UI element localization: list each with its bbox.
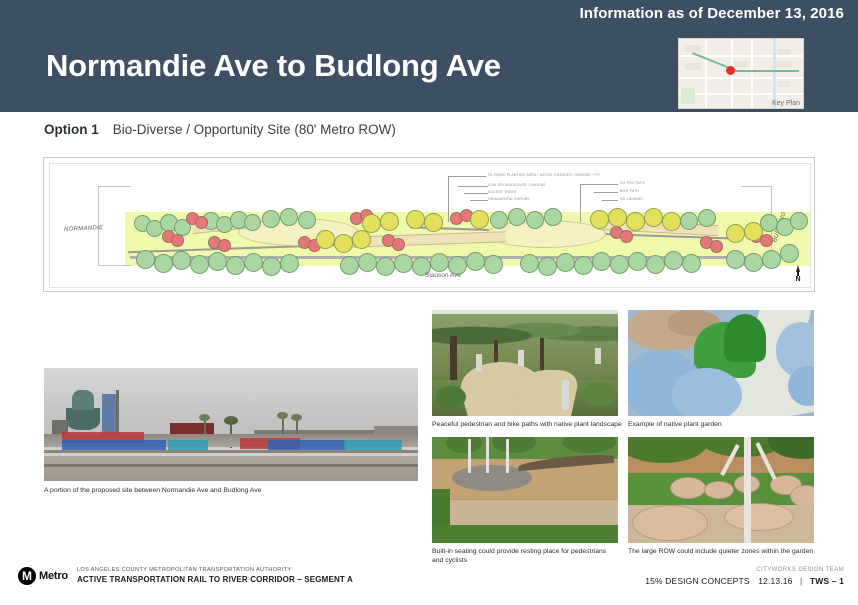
tree-symbol (556, 253, 575, 272)
tree-symbol (698, 209, 716, 227)
accent-tree-symbol (710, 240, 723, 253)
keyplan-label: Key Plan (772, 100, 800, 107)
footer-sheet-number: TWS – 1 (810, 576, 844, 586)
site-plan-canvas: NORMANDIE BUDLONG (49, 163, 811, 288)
metro-wordmark: Metro (39, 570, 68, 582)
rail-line (44, 464, 418, 467)
option-number: Option 1 (44, 122, 99, 137)
ornamental-tree-symbol (380, 212, 399, 231)
footer-right: CITYWORKS DESIGN TEAM 15% DESIGN CONCEPT… (645, 566, 844, 587)
tree-symbol (262, 210, 280, 228)
page-title: Normandie Ave to Budlong Ave (46, 48, 501, 84)
annotation-leader (602, 200, 618, 201)
annotation-note: BIKE PATH (620, 189, 639, 193)
tree-symbol (190, 255, 209, 274)
annotation-leader (448, 176, 486, 177)
annotation-leader (580, 184, 581, 222)
caption-native-plant-garden: Example of native plant garden (628, 420, 818, 429)
ornamental-tree-symbol (316, 230, 335, 249)
ornamental-tree-symbol (352, 230, 371, 249)
tree-symbol (172, 251, 191, 270)
annotation-note: DG LANDING (620, 197, 643, 201)
photo-native-plant-garden[interactable] (628, 310, 814, 416)
photo-streetscape[interactable] (44, 368, 418, 481)
north-arrow-icon: N (792, 265, 804, 283)
boulder (670, 477, 706, 499)
tree-symbol (726, 250, 745, 269)
ornamental-tree-symbol (626, 212, 645, 231)
lawn-foreground (432, 525, 618, 543)
tree-trunk (450, 336, 457, 382)
ornamental-tree-symbol (662, 212, 681, 231)
tree-symbol (744, 253, 763, 272)
tree-symbol (430, 253, 449, 272)
tree-symbol (538, 257, 557, 276)
ornamental-tree-symbol (644, 208, 663, 227)
industrial-silo (72, 390, 94, 410)
palm-tree-crown (277, 412, 288, 419)
tree-symbol (680, 212, 698, 230)
tree-symbol (154, 254, 173, 273)
street-tree-crown (224, 416, 238, 425)
tree-symbol (610, 255, 629, 274)
boulder (724, 503, 794, 531)
accent-tree-symbol (195, 216, 208, 229)
tree-trunk (486, 437, 489, 473)
boulder (704, 481, 734, 499)
tree-symbol (244, 253, 263, 272)
tree-symbol (760, 214, 778, 232)
keyplan-road (679, 77, 803, 79)
accent-tree-symbol (218, 239, 231, 252)
tree-symbol (208, 252, 227, 271)
accent-tree-symbol (392, 238, 405, 251)
keyplan-road (705, 39, 707, 108)
rail-line (44, 450, 418, 453)
industrial-silo (66, 408, 100, 430)
photo-peaceful-path[interactable] (432, 310, 618, 416)
shrub (582, 382, 616, 406)
keyplan-route (731, 70, 799, 72)
ornamental-grass (724, 314, 766, 362)
metro-logo: M Metro (18, 567, 68, 585)
north-arrow-label: N (792, 276, 804, 283)
palm-tree-crown (291, 414, 302, 421)
ornamental-tree-symbol (608, 208, 627, 227)
footer-separator: | (800, 576, 802, 586)
keyplan-block (777, 81, 791, 87)
photo-built-in-seating[interactable] (432, 437, 618, 543)
tree-symbol (376, 257, 395, 276)
footer-text-block: LOS ANGELES COUNTY METROPOLITAN TRANSPOR… (77, 566, 353, 585)
tree-trunk (744, 437, 751, 543)
slauson-ave-label: Slauson Ave (425, 272, 461, 279)
accent-tree-symbol (171, 234, 184, 247)
palm-tree-crown (199, 414, 210, 421)
tree-symbol (262, 257, 281, 276)
accent-tree-symbol (620, 230, 633, 243)
tree-symbol (490, 211, 508, 229)
annotation-leader (594, 192, 618, 193)
annotation-leader (464, 193, 488, 194)
information-date: Information as of December 13, 2016 (580, 5, 844, 22)
tree-symbol (790, 212, 808, 230)
tree-trunk (506, 439, 509, 473)
keyplan-road (751, 39, 753, 108)
keyplan-major-road (773, 39, 776, 108)
tree-symbol (298, 211, 316, 229)
tree-symbol (340, 256, 359, 275)
tree-symbol (508, 208, 526, 226)
annotation-leader (458, 186, 488, 187)
annotation-leader (448, 176, 449, 222)
path-bollard (476, 354, 482, 372)
ornamental-tree-symbol (334, 234, 353, 253)
tree-symbol (544, 208, 562, 226)
tree-trunk (468, 439, 471, 473)
keyplan-block (734, 61, 748, 67)
tree-symbol (280, 208, 298, 226)
tree-symbol (646, 255, 665, 274)
ornamental-tree-symbol (424, 213, 443, 232)
tree-symbol (136, 250, 155, 269)
caption-streetscape: A portion of the proposed site between N… (44, 486, 418, 495)
caption-built-in-seating: Built-in seating could provide resting p… (432, 547, 622, 565)
ornamental-tree-symbol (470, 210, 489, 229)
tree-symbol (520, 254, 539, 273)
tree-symbol (664, 251, 683, 270)
boulder (790, 485, 814, 507)
footer-design-team: CITYWORKS DESIGN TEAM (645, 566, 844, 575)
annotation-note: LOW GROUNDCOVER / SHRUBS (488, 183, 546, 187)
page-header: Information as of December 13, 2016 Norm… (0, 0, 858, 112)
path-bollard (595, 348, 601, 364)
photo-quiet-zones[interactable] (628, 437, 814, 543)
ground-layer (44, 456, 418, 481)
footer-project-name: ACTIVE TRANSPORTATION RAIL TO RIVER CORR… (77, 574, 353, 585)
footer-left: M Metro LOS ANGELES COUNTY METROPOLITAN … (18, 566, 353, 585)
seat-wall (432, 499, 618, 528)
tree-symbol (484, 255, 503, 274)
ornamental-tree-symbol (590, 210, 609, 229)
keyplan-green-area (681, 88, 695, 104)
annotation-note: ORNAMENTAL SHRUBS (488, 197, 530, 201)
blue-flowering-shrub (672, 368, 742, 416)
footer-phase: 15% DESIGN CONCEPTS (645, 576, 749, 586)
site-plan-drawing[interactable]: NORMANDIE BUDLONG (43, 157, 815, 292)
tree-symbol (628, 252, 647, 271)
path-bollard (562, 380, 569, 410)
tree-symbol (394, 254, 413, 273)
annotation-leader (470, 200, 488, 201)
lawn-edge (432, 489, 450, 527)
footer-date: 12.13.16 (758, 576, 792, 586)
annotation-note: DG PED PATH (620, 181, 645, 185)
keyplan-location-marker (726, 66, 735, 75)
tree-symbol (762, 250, 781, 269)
tree-symbol (574, 256, 593, 275)
option-header: Option 1Bio-Diverse / Opportunity Site (… (44, 122, 396, 137)
shrub (436, 386, 466, 408)
ornamental-tree-symbol (726, 224, 745, 243)
tree-symbol (526, 211, 544, 229)
key-plan-map[interactable]: Key Plan (678, 38, 804, 109)
tree-symbol (244, 214, 261, 231)
tree-symbol (682, 254, 701, 273)
accent-tree-symbol (760, 234, 773, 247)
annotation-note: FILTERED PLANTING AREA / NATIVE GRASSES … (488, 173, 601, 177)
option-description: Bio-Diverse / Opportunity Site (80' Metr… (113, 122, 396, 137)
keyplan-block (777, 61, 791, 67)
annotation-note: ACCENT TREES (488, 190, 516, 194)
tree-symbol (226, 256, 245, 275)
tree-symbol (280, 254, 299, 273)
ornamental-tree-symbol (406, 210, 425, 229)
caption-quiet-zones: The large ROW could include quieter zone… (628, 547, 818, 556)
keyplan-block (685, 63, 701, 70)
path-bollard (518, 350, 524, 366)
tree-symbol (466, 252, 485, 271)
north-arrow-head (796, 265, 800, 272)
metro-m-icon: M (18, 567, 36, 585)
keyplan-road (679, 93, 803, 95)
tree-symbol (592, 252, 611, 271)
footer-agency-name: LOS ANGELES COUNTY METROPOLITAN TRANSPOR… (77, 566, 353, 574)
boulder (632, 505, 708, 541)
caption-peaceful-path: Peaceful pedestrian and bike paths with … (432, 420, 622, 429)
footer-sheet-meta: 15% DESIGN CONCEPTS 12.13.16 | TWS – 1 (645, 575, 844, 587)
tree-symbol (358, 253, 377, 272)
keyplan-block (685, 45, 701, 52)
annotation-leader (580, 184, 618, 185)
tree-canopy-layer (432, 314, 618, 350)
tree-symbol (780, 244, 799, 263)
